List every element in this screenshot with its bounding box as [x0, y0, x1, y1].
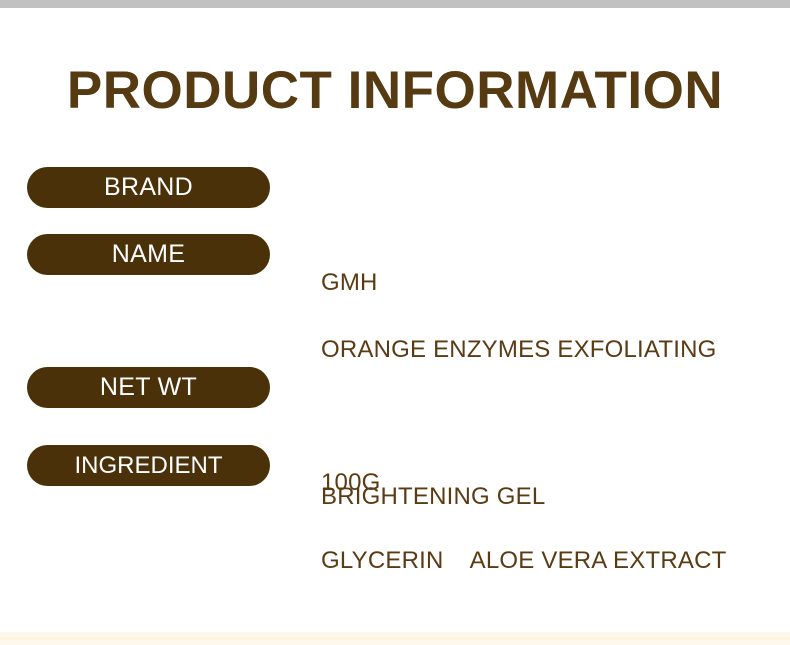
spec-label-brand: BRAND: [27, 167, 270, 208]
spec-value-ingredient: GLYCERIN ALOE VERA EXTRACT SAFFLOWER EXT…: [321, 438, 776, 645]
spec-value-ingredient-line-1: GLYCERIN ALOE VERA EXTRACT: [321, 536, 776, 585]
product-information-card: PRODUCT INFORMATION BRAND GMH NAME ORANG…: [0, 0, 790, 645]
spec-label-ingredient: INGREDIENT: [27, 445, 270, 486]
spec-label-name: NAME: [27, 234, 270, 275]
spec-label-net-wt: NET WT: [27, 367, 270, 408]
spec-rows: BRAND GMH NAME ORANGE ENZYMES EXFOLIATIN…: [0, 0, 790, 645]
bottom-cream-line: [0, 637, 790, 640]
